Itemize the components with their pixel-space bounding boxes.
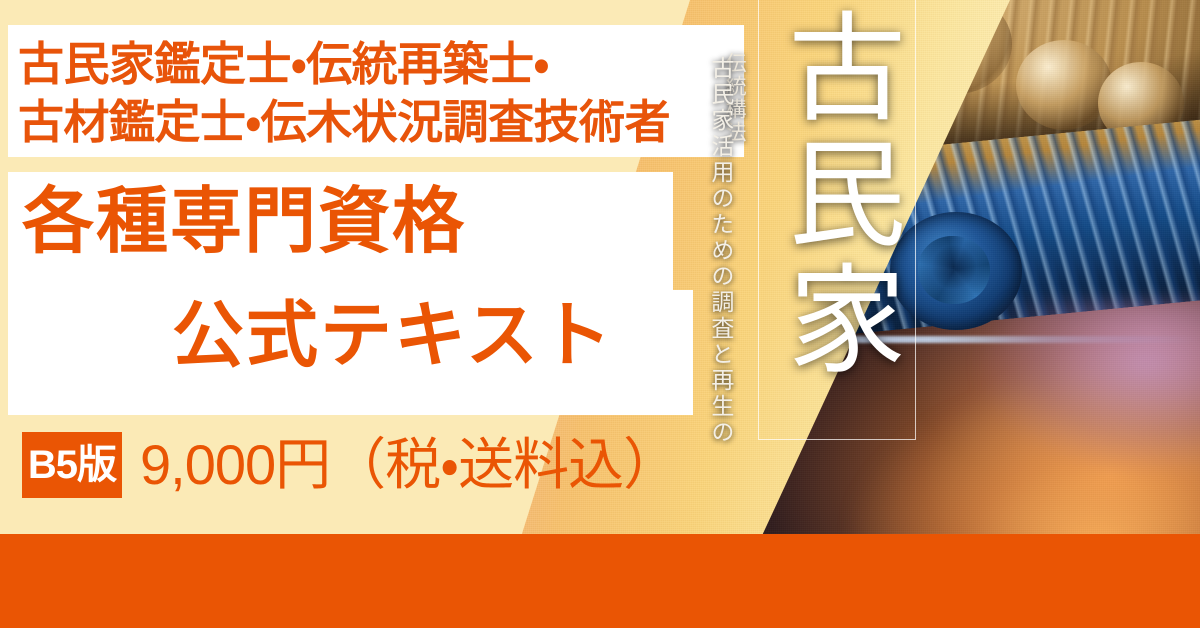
price-text: 9,000円（税・送料込） [140,434,678,496]
qualifications-line-1: 古民家鑑定士・伝統再築士・ [18,36,734,94]
cover-title: 古民家 [772,6,901,384]
promo-banner: 古民家 伝統構法 古民家活用のための調査と再生の 古民家鑑定士・伝統再築士・ 古… [0,0,1200,628]
format-badge-b5: B5版 [22,432,122,498]
qualifications-line-2: 古材鑑定士・伝木状況調査技術者 [18,94,734,152]
qualifications-text: 古民家鑑定士・伝統再築士・ 古材鑑定士・伝木状況調査技術者 [18,36,734,152]
headline-line-1: 各種専門資格 [22,186,466,258]
cover-subtitle: 古民家活用のための調査と再生の [704,56,735,536]
cta-bar[interactable]: 詳細・ご購入はこちら [0,534,1200,628]
headline-line-2: 公式テキスト [172,300,614,372]
